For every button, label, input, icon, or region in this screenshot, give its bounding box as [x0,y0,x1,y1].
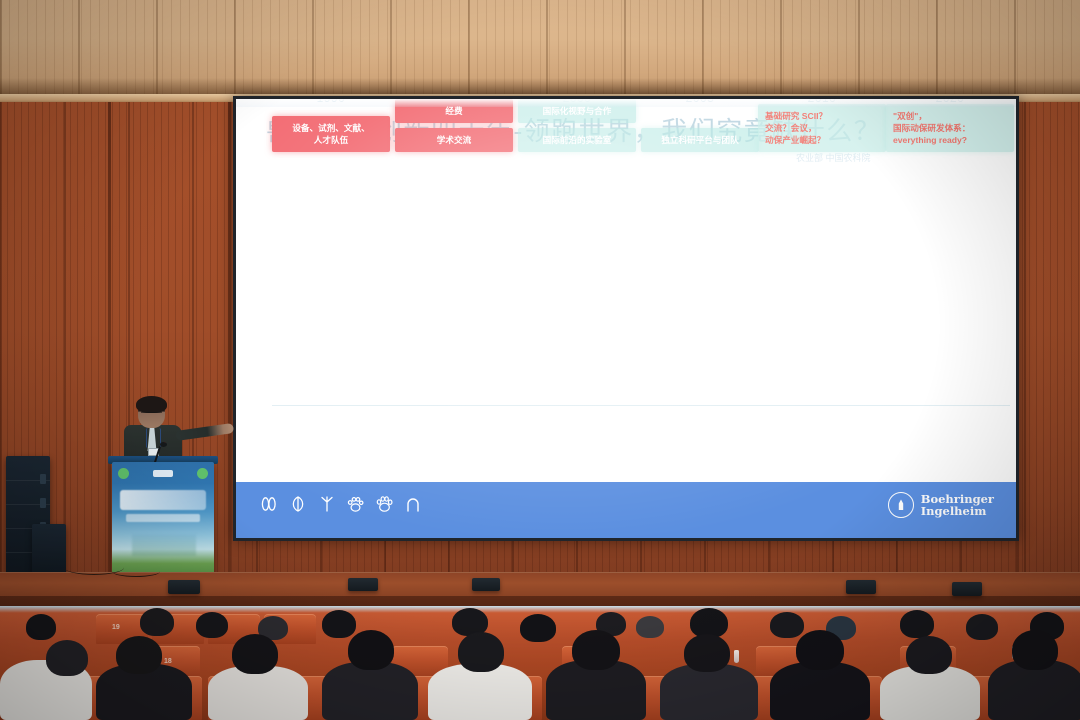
callout-box: "双创"， 国际动保研发体系： everything ready? [886,104,1014,152]
audience-shoulders [428,664,532,720]
audience-shoulders [208,666,308,720]
audience-head [46,640,88,676]
audience-head [520,614,556,642]
boehringer-ingelheim-logo-icon [888,492,914,518]
timeline-callouts: 设备、试剂、文献、 人才队伍 [272,116,390,157]
stage-monitor-wedge [952,582,982,596]
audience-head [906,636,952,674]
audience-head [458,632,504,672]
audience-head [636,616,664,638]
stage-monitor-wedge [168,580,200,594]
callout-box: 学术交流 [395,128,513,152]
wall-seam [228,102,231,600]
timeline-callouts: 经费 学术交流 [395,99,513,157]
animal-footprint-icon-row [260,496,421,512]
presenter-lanyard [146,428,161,448]
audience-head [196,612,228,638]
stage-cable [112,566,160,577]
sponsor-logo-icon [197,468,208,479]
audience-shoulders [322,662,418,720]
screen-top-glare [236,99,1016,107]
callout-box: 独立科研平台与团队 [641,128,759,152]
seat-number: 18 [164,658,172,665]
projection-screen: 兽医兽药创新四十年-领跑世界，我们究竟缺什么？ 农业部 中国农科院 "七五"国家… [236,99,1016,538]
timeline-callouts: 基础研究 SCII？ 交流？会议， 动保产业崛起？ [758,104,886,157]
audience-head [684,634,730,672]
seat-number: 19 [112,624,120,631]
audience-head [348,630,394,670]
horse-hoof-icon [405,496,421,512]
bird-foot-icon [319,496,335,512]
hoof-print-icon [260,496,277,512]
presenter-hair [136,396,167,413]
podium-sponsor-logos [118,468,208,479]
conference-hall-photo: 兽医兽药创新四十年-领跑世界，我们究竟缺什么？ 农业部 中国农科院 "七五"国家… [0,0,1080,720]
audience-shoulders [660,664,758,720]
audience-head [1012,630,1058,670]
slide-footer-bar: Boehringer Ingelheim [236,482,1016,538]
sponsor-logo-icon [118,468,129,479]
callout-box: 国际前沿的实验室 [518,128,636,152]
audience-head [116,636,162,674]
timeline: "七五"国家重大 "重要畜禽基因工程 疫苗研制" 1990 设备、试剂、文献、 … [250,151,1002,451]
timeline-callouts: "双创"， 国际动保研发体系： everything ready? [886,104,1014,157]
timeline-callouts: 国际化视野与合作 国际前沿的实验室 [518,99,636,157]
audience-head [770,612,804,638]
timeline-callouts: 独立科研平台与团队 [641,128,759,157]
presenter-glasses-icon [141,412,162,418]
podium-landscape-art [132,534,196,556]
audience-head [966,614,998,640]
wall-seam [108,102,111,600]
cloven-hoof-icon [289,496,307,512]
timeline-axis [272,405,1010,406]
podium-with-event-banner [112,462,214,580]
cat-paw-icon [347,496,364,512]
pa-subwoofer-left [32,524,66,576]
sponsor-wordmark-icon [153,470,173,477]
audience-head [900,610,934,638]
audience-head [232,634,278,674]
callout-box: 设备、试剂、文献、 人才队伍 [272,116,390,152]
audience-shoulders [770,662,870,720]
presenter-pointing-arm [175,423,234,441]
podium-event-title-art [120,490,206,510]
callout-box: 基础研究 SCII？ 交流？会议， 动保产业崛起？ [758,104,886,152]
dog-paw-icon [376,496,393,512]
stage-monitor-wedge [846,580,876,594]
presentation-slide: 兽医兽药创新四十年-领跑世界，我们究竟缺什么？ 农业部 中国农科院 "七五"国家… [236,99,1016,538]
audience-shoulders [880,666,980,720]
brand-line-2: Ingelheim [921,505,994,518]
stage-monitor-wedge [348,578,378,591]
water-bottle [734,650,739,663]
audience-head [322,610,356,638]
stage-monitor-wedge [472,578,500,591]
podium-event-subtitle-art [126,514,200,522]
audience-head [572,630,620,670]
microphone-icon [160,442,167,447]
boehringer-ingelheim-logo: Boehringer Ingelheim [888,492,994,518]
audience-head [26,614,56,640]
audience-head [140,608,174,636]
brand-text: Boehringer Ingelheim [921,493,994,518]
audience-head [796,630,844,670]
